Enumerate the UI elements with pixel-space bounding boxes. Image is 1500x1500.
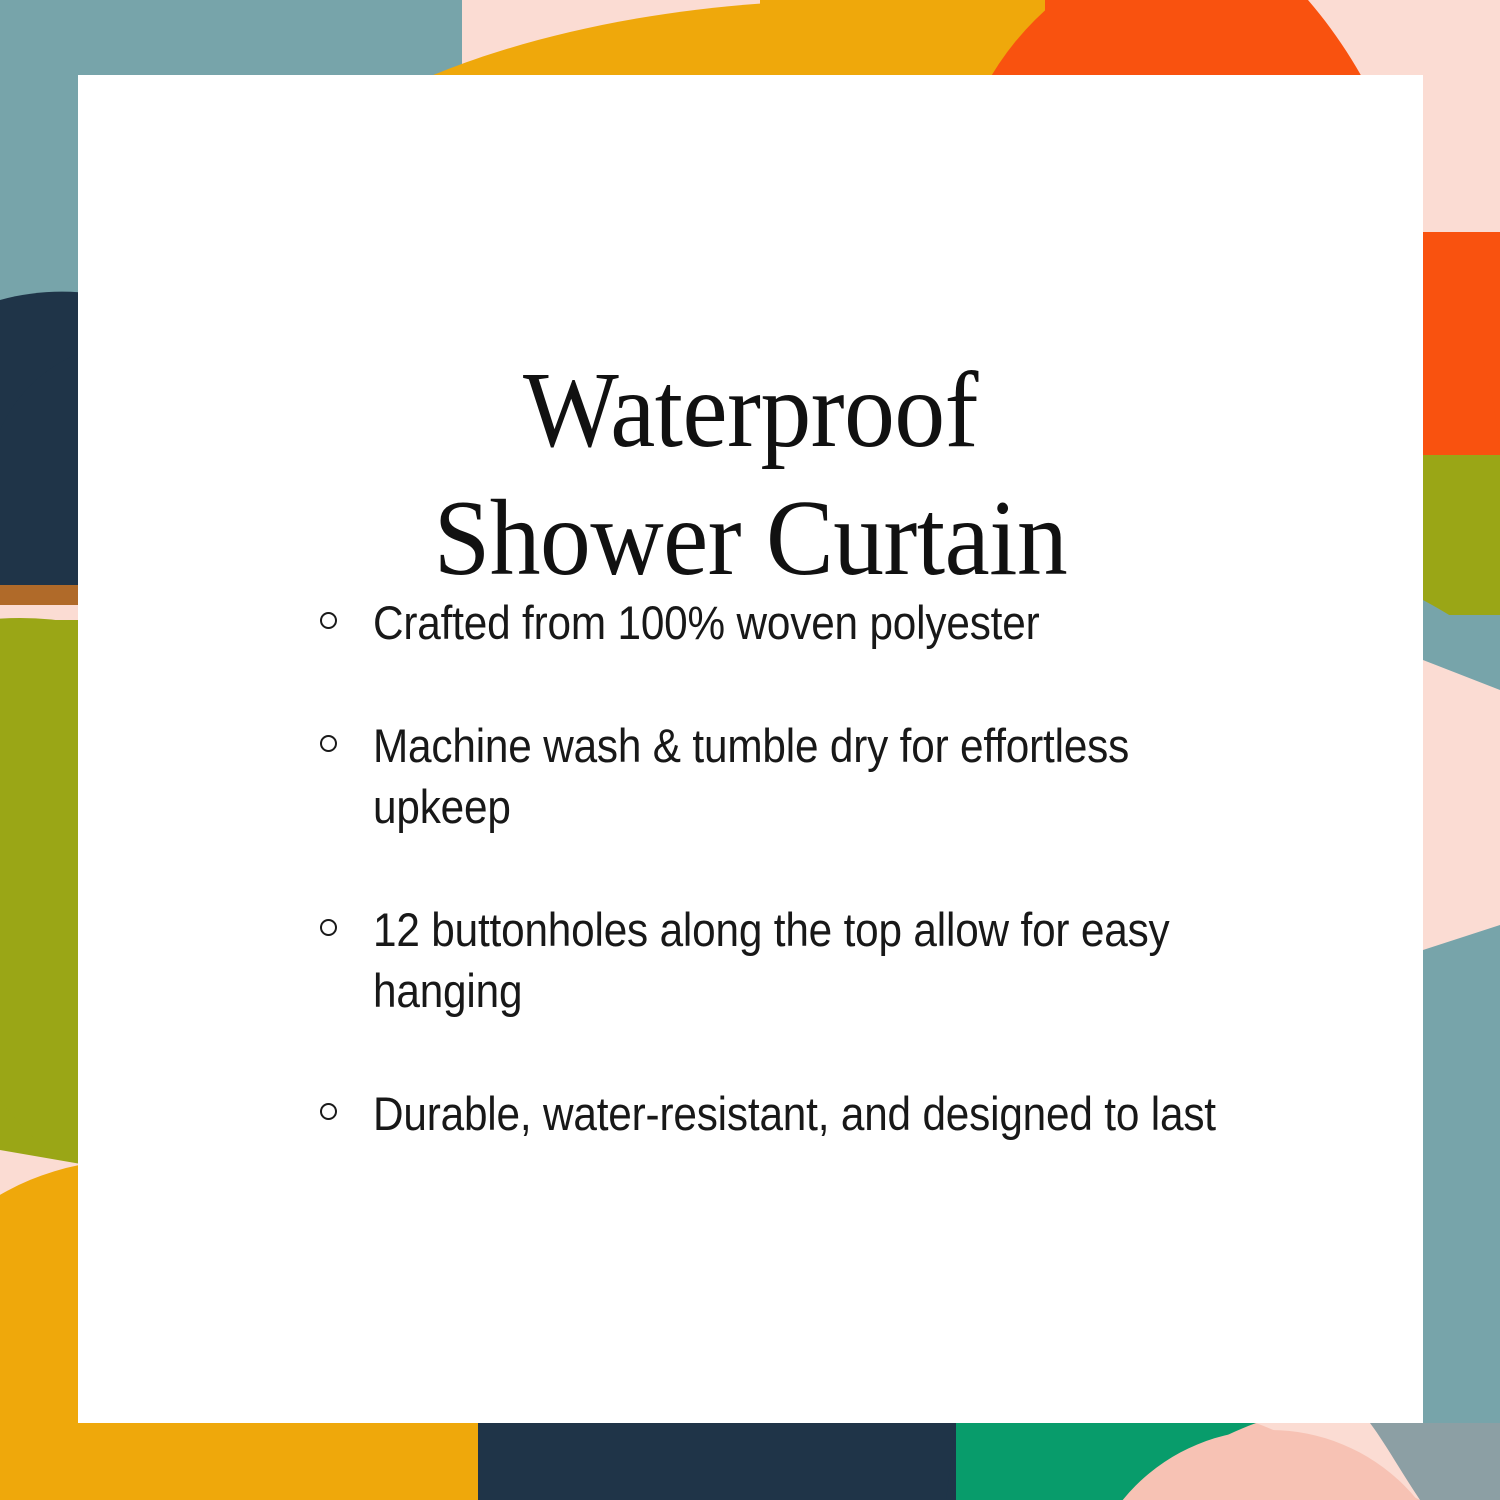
product-infographic: Waterproof Shower Curtain Crafted from 1… [0,0,1500,1500]
list-item: Crafted from 100% woven polyester [320,592,1320,653]
circle-bullet-icon [320,1103,337,1120]
content-card: Waterproof Shower Curtain Crafted from 1… [78,75,1423,1423]
page-title: Waterproof Shower Curtain [118,347,1382,602]
feature-text: Crafted from 100% woven polyester [373,592,1225,653]
list-item: Machine wash & tumble dry for effortless… [320,715,1320,837]
circle-bullet-icon [320,735,337,752]
feature-text: 12 buttonholes along the top allow for e… [373,899,1225,1021]
title-line-1: Waterproof [118,347,1382,474]
circle-bullet-icon [320,612,337,629]
list-item: Durable, water-resistant, and designed t… [320,1083,1320,1144]
feature-text: Machine wash & tumble dry for effortless… [373,715,1225,837]
title-line-2: Shower Curtain [118,475,1382,602]
list-item: 12 buttonholes along the top allow for e… [320,899,1320,1021]
feature-text: Durable, water-resistant, and designed t… [373,1083,1225,1144]
circle-bullet-icon [320,919,337,936]
feature-list: Crafted from 100% woven polyester Machin… [320,592,1320,1145]
